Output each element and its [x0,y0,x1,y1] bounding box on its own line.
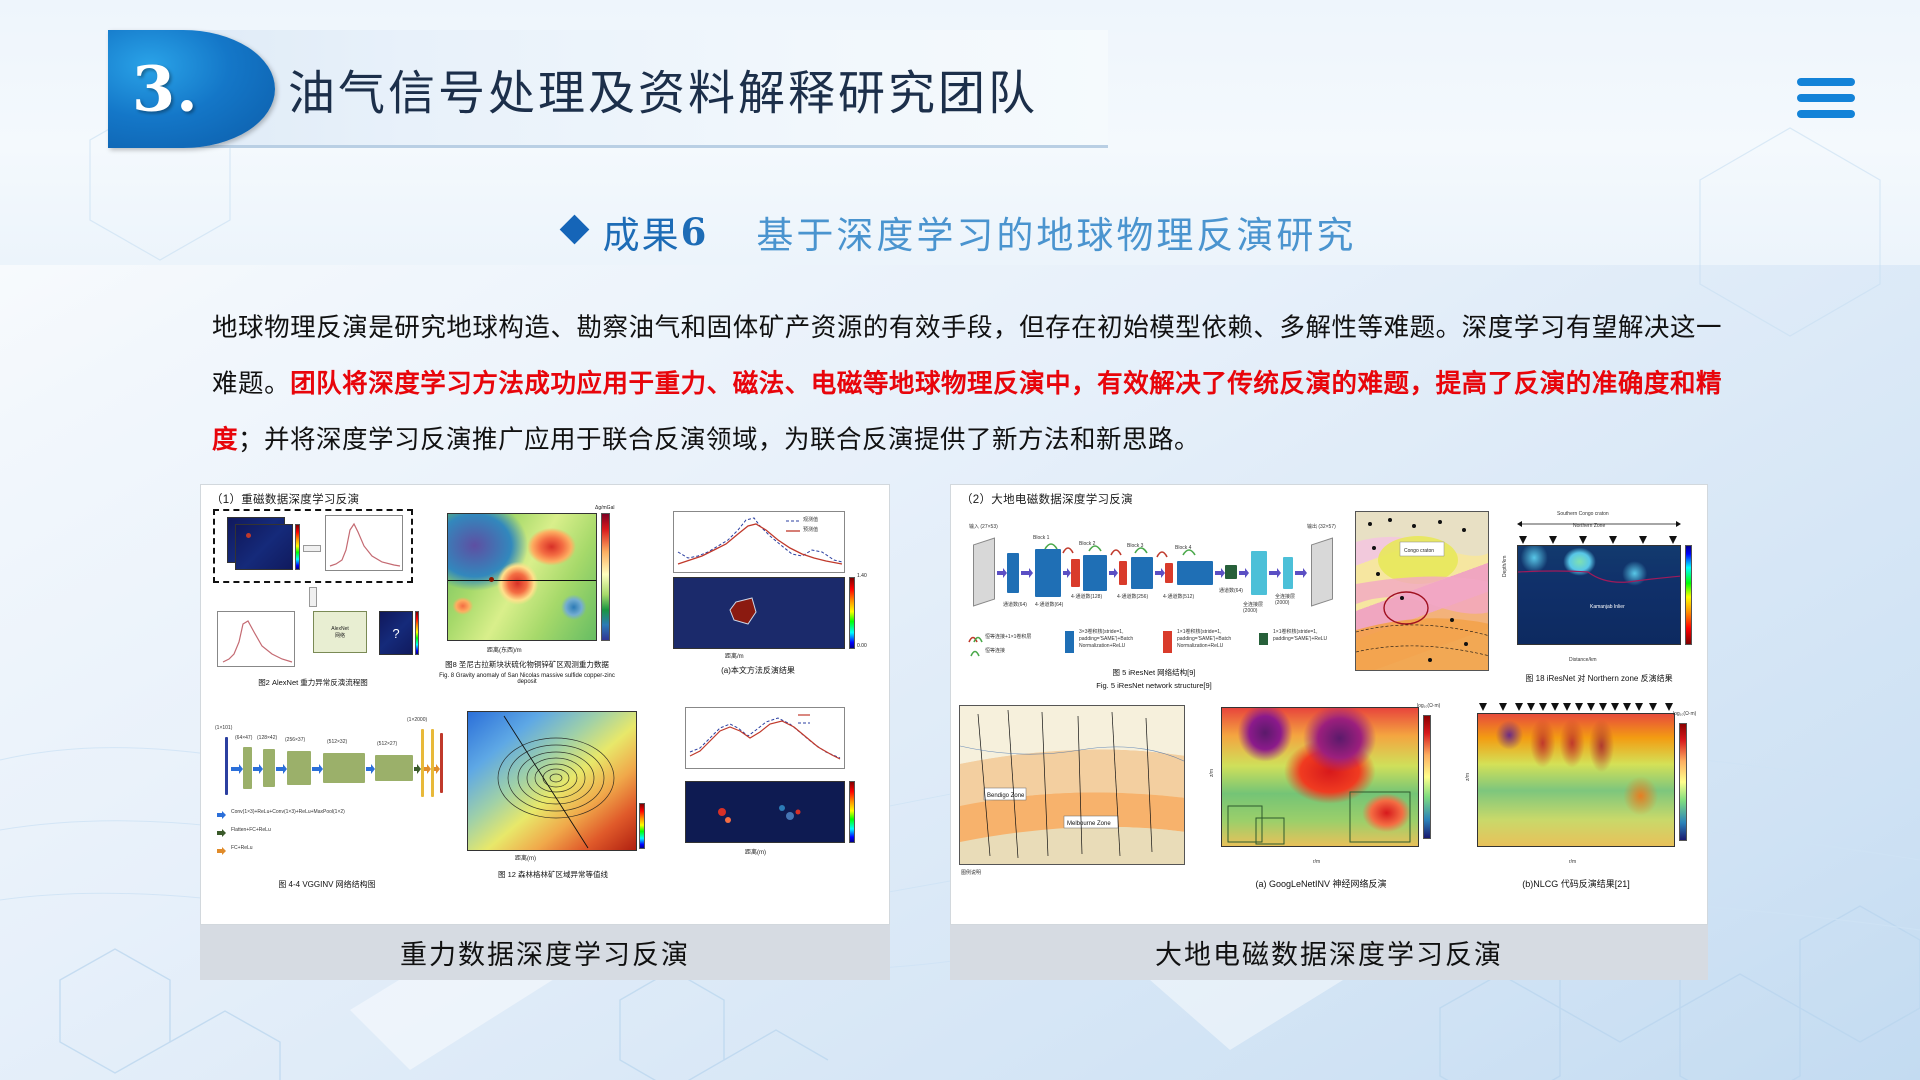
xlabel-contour: 距离(东西)/m [487,645,522,654]
colorbar-congo [1685,545,1692,645]
hamburger-icon[interactable] [1797,78,1855,118]
hamburger-bar-2 [1797,94,1855,102]
hamburger-bar-1 [1797,78,1855,86]
colorbar-label-contour: Δg/mGal [595,505,614,511]
figure-inversion-result: 观测值 预测值 1.40 0.00 距离/m (a)本文方法反演结果 [633,507,883,692]
arrow-block-down [309,587,317,607]
xlabel-googlenet: r/m [1313,859,1320,865]
svg-text:Congo craton: Congo craton [1404,548,1434,554]
nlcg-resistivity-map [1477,713,1675,847]
figure-panel-gravity: （1）重磁数据深度学习反演 AlexNet网络 ? 图2 AlexNet 重力异… [200,484,890,925]
section-number: 3. [132,53,199,126]
vgg-legend-1: Conv(1×3)+ReLu+Conv(1×3)+ReLu+MaxPool(1×… [231,809,345,815]
ylabel-congo: Depth/km [1502,556,1508,577]
iresnet-fc-label-2: 全连接层 (2000) [1275,593,1295,606]
figure-magnetic-contour: 距离(m) 图 12 森林格林矿区域异常等值线 [453,703,653,903]
figure-alexnet-flow: AlexNet网络 ? 图2 AlexNet 重力异常反演流程图 [209,507,417,692]
caption-gravity: 重力数据深度学习反演 [200,925,890,980]
figure-gravity-contour: Δg/mGal 距离(东西)/m 图8 圣尼古拉斯块状硫化物铜锌矿区观测重力数据… [429,507,625,692]
ylabel-nlcg: z/m [1465,773,1471,781]
figure-googlenet-inversion: log₁₀(Ω·m) r/m z/m (a) GoogLeNetINV 神经网络… [1195,701,1447,905]
iresnet-legend-5: 1×1卷积核(stride=1, padding='SAME')+ReLU [1273,629,1343,643]
svg-text:Melbourne Zone: Melbourne Zone [1067,821,1111,827]
legend-predicted: 预测值 [803,526,818,533]
congo-resistivity-section: Kamanjab Inlier [1517,545,1681,645]
magnetization-scatter-map [685,781,845,843]
geologic-map-congo: Congo craton [1355,511,1489,671]
figure-iresnet-caption-en: Fig. 5 iResNet network structure[9] [959,681,1349,690]
ylabel-googlenet: z/m [1209,769,1215,777]
subtitle-text: 基于深度学习的地球物理反演研究 [756,214,1356,257]
xlabel-congo: Distance/km [1569,657,1597,663]
iresnet-channel-1: 通道数(64) [1003,601,1027,608]
colorbar-label-googlenet: log₁₀(Ω·m) [1417,703,1440,709]
hamburger-bar-3 [1797,110,1855,118]
iresnet-legend-1: 恒等连接+1×1卷积层 [985,633,1031,640]
figure-congo-section: Southern Congo craton Northern Zone Kama… [1497,507,1701,697]
iresnet-legend-swatch-red [1163,631,1172,653]
googlenet-resistivity-map [1221,707,1419,847]
contour-plot [447,513,597,641]
figure-geologic-map-bottom: Bendigo Zone Melbourne Zone 图例说明 [959,701,1185,905]
density-model-map [673,577,845,649]
panel-tag-gravity: （1）重磁数据深度学习反演 [211,491,359,507]
colorbar-gravity-map [295,524,300,570]
svg-text:Bendigo Zone: Bendigo Zone [987,793,1025,799]
iresnet-channel-4: 4·通道数(256) [1117,593,1148,600]
iresnet-legend-swatch-green [1259,633,1268,645]
anomaly-curve-box-bottom [217,611,295,667]
figure-vgginv-structure: (1×101) (64×47) (128×42) (256×37) (512×3… [209,703,445,903]
subtitle-number: 6 [681,210,709,254]
inversion-result-map: ? [379,611,413,655]
magnetic-contour-plot [467,711,637,851]
subtitle-row: 成果6基于深度学习的地球物理反演研究 [0,205,1920,259]
iresnet-channel-5: 4·通道数(512) [1163,593,1194,600]
xlabel-magnetic: 距离(m) [515,853,536,862]
nlcg-station-markers [1477,703,1675,713]
figure-iresnet-caption-cn: 图 5 iResNet 网络结构[9] [959,667,1349,678]
colorbar-googlenet [1423,715,1431,839]
figure-result-caption: (a)本文方法反演结果 [633,665,883,676]
arrow-block-1 [303,545,321,552]
figure-geologic-map-top: Congo craton [1355,507,1489,697]
xlabel-nlcg: r/m [1569,859,1576,865]
figure-congo-caption: 图 18 iResNet 对 Northern zone 反演结果 [1497,673,1701,684]
figure-panel-mt: （2）大地电磁数据深度学习反演 输入 (27×53) Block 1 Block… [950,484,1708,925]
legend-observed: 观测值 [803,516,818,523]
iresnet-channel-3: 4·通道数(128) [1071,593,1102,600]
figure-contour-caption-en: Fig. 8 Gravity anomaly of San Nicolas ma… [429,673,625,685]
subtitle-label: 成果 [603,214,681,257]
body-paragraph: 地球物理反演是研究地球构造、勘察油气和固体矿产资源的有效手段，但存在初始模型依赖… [212,300,1722,468]
alexnet-network-block: AlexNet网络 [313,611,367,653]
colorbar-label-nlcg: log₁₀(Ω·m) [1673,711,1696,717]
figure-nlcg-inversion: log₁₀(Ω·m) r/m z/m (b)NLCG 代码反演结果[21] [1451,701,1701,905]
colorbar-nlcg [1679,723,1687,841]
svg-text:Kamanjab Inlier: Kamanjab Inlier [1590,604,1625,610]
iresnet-channel-2: 4·通道数(64) [1035,601,1063,608]
panel-tag-mt: （2）大地电磁数据深度学习反演 [961,491,1133,507]
iresnet-legend-swatch-blue [1065,631,1074,653]
figure-iresnet-structure: 输入 (27×53) Block 1 Block 2 Block 3 Block… [959,507,1349,697]
figure-alexnet-caption: 图2 AlexNet 重力异常反演流程图 [209,677,417,688]
colorbar-magnetization [639,803,645,849]
colorbar-density [849,577,855,649]
iresnet-channel-6: 通道数(64) [1219,587,1243,594]
figure-nlcg-caption: (b)NLCG 代码反演结果[21] [1451,877,1701,890]
colorbar-tick-000: 0.00 [857,643,867,649]
observed-predicted-curves: 观测值 预测值 [673,511,845,573]
colorbar-curve-map [849,781,855,843]
anomaly-curve-box-top [325,515,403,571]
colorbar-result [415,611,419,655]
xlabel-curves: 距离(m) [745,847,766,856]
colorbar-tick-140: 1.40 [857,573,867,579]
figure-contour-caption-cn: 图8 圣尼古拉斯块状硫化物铜锌矿区观测重力数据 [429,659,625,670]
caption-mt: 大地电磁数据深度学习反演 [950,925,1708,980]
diamond-bullet-icon [559,214,589,244]
figure-magnetic-curves: 距离(m) [657,703,883,903]
magnetic-curve-box [685,707,845,769]
vgg-legend-3: FC+ReLu [231,845,253,851]
geologic-map-victoria: Bendigo Zone Melbourne Zone [959,705,1185,865]
iresnet-fc-label-1: 全连接层 (2000) [1243,601,1263,614]
colorbar-contour [601,513,610,641]
geologic-map-legend-note: 图例说明 [961,869,981,877]
figure-vgginv-caption: 图 4-4 VGGINV 网络结构图 [209,879,445,890]
iresnet-legend-2: 恒等连接 [985,647,1005,654]
figure-googlenet-caption: (a) GoogLeNetINV 神经网络反演 [1195,877,1447,890]
figure-magnetic-caption: 图 12 森林格林矿区域异常等值线 [453,869,653,880]
vgg-legend-2: Flatten+FC+ReLu [231,827,271,833]
xlabel-result: 距离/m [725,651,744,660]
congo-title-top: Southern Congo craton [1557,511,1609,517]
slide-header: 3. 油气信号处理及资料解释研究团队 [0,30,1920,148]
gravity-map-front [235,524,293,570]
page-title: 油气信号处理及资料解释研究团队 [288,55,1038,124]
body-part-2: ；并将深度学习反演推广应用于联合反演领域，为联合反演提供了新方法和新思路。 [238,426,1200,454]
iresnet-legend-3: 3×3卷积核(stride=1, padding='SAME')+Batch N… [1079,629,1153,650]
iresnet-legend-4: 1×1卷积核(stride=1, padding='SAME')+Batch N… [1177,629,1251,650]
